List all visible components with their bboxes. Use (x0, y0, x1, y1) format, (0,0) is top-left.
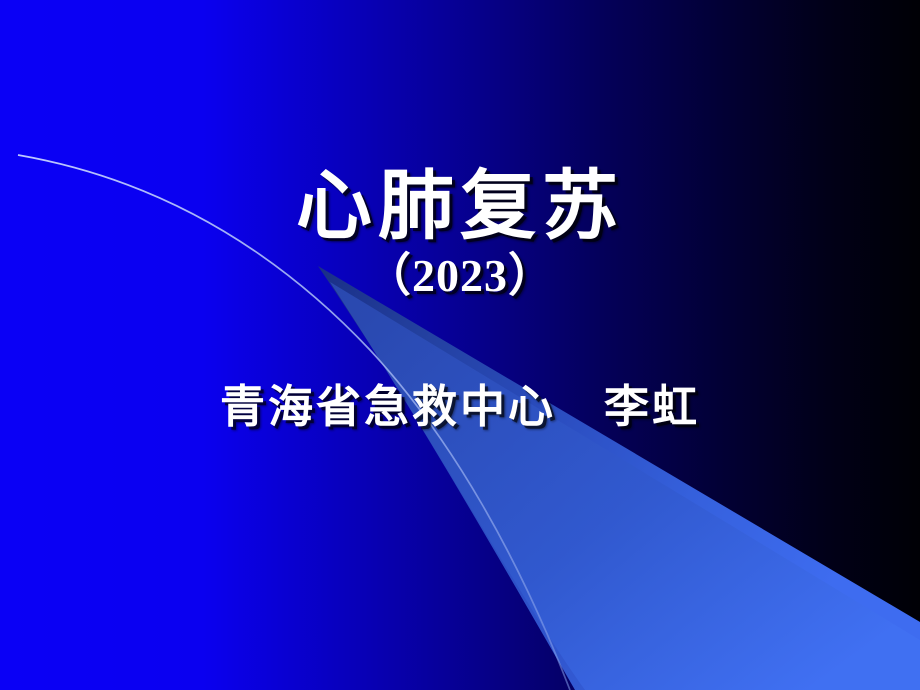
page-title: 心肺复苏 (0, 168, 920, 247)
title-year: （2023） (0, 251, 920, 302)
slide-text-layer: 心肺复苏 （2023） 青海省急救中心 李虹 (0, 0, 920, 690)
title-block: 心肺复苏 （2023） (0, 168, 920, 302)
title-slide: 心肺复苏 （2023） 青海省急救中心 李虹 (0, 0, 920, 690)
subtitle-block: 青海省急救中心 李虹 (0, 382, 920, 434)
presenter-affiliation: 青海省急救中心 李虹 (0, 382, 920, 434)
